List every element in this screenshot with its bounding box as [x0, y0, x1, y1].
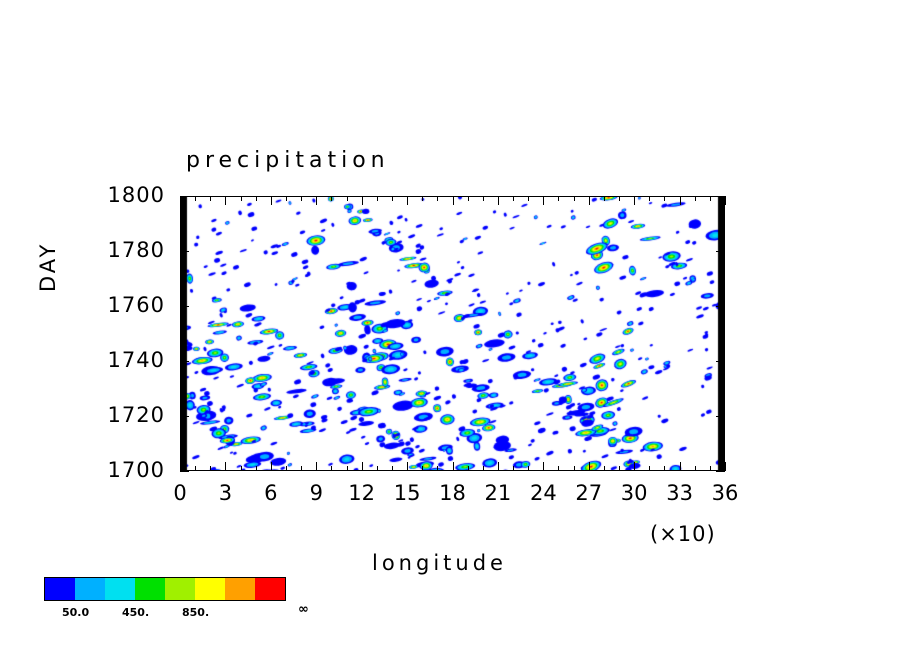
x-tick [680, 196, 681, 205]
y-tick [180, 279, 185, 280]
y-tick [720, 265, 725, 266]
y-tick-label: 1800 [55, 183, 165, 207]
x-tick [543, 196, 544, 205]
x-tick [347, 466, 348, 471]
x-tick [437, 466, 438, 471]
x-tick-label: 30 [614, 481, 654, 505]
y-tick [180, 416, 189, 417]
y-tick [180, 196, 189, 197]
x-tick [498, 196, 499, 205]
y-tick [720, 457, 725, 458]
y-tick [720, 334, 725, 335]
y-tick [716, 471, 725, 472]
x-tick-label: 36 [705, 481, 745, 505]
y-tick [180, 402, 185, 403]
precipitation-field [181, 197, 724, 470]
x-tick [241, 466, 242, 471]
colorbar-label: 450. [122, 606, 149, 619]
x-tick [210, 196, 211, 201]
x-tick [558, 466, 559, 471]
x-tick [513, 466, 514, 471]
colorbar-swatch [225, 578, 255, 600]
y-tick [180, 224, 185, 225]
x-tick [316, 462, 317, 471]
x-tick-label: 15 [387, 481, 427, 505]
x-tick-label: 6 [251, 481, 291, 505]
y-tick [180, 334, 185, 335]
x-tick [407, 196, 408, 205]
y-tick-label: 1700 [55, 458, 165, 482]
y-tick-label: 1780 [55, 238, 165, 262]
x-tick [331, 196, 332, 201]
x-tick-label: 24 [523, 481, 563, 505]
y-tick [180, 389, 185, 390]
y-tick [720, 402, 725, 403]
y-tick [180, 444, 185, 445]
y-tick [716, 416, 725, 417]
y-tick [720, 389, 725, 390]
x-tick-label: 9 [296, 481, 336, 505]
y-tick-label: 1740 [55, 348, 165, 372]
x-tick [543, 462, 544, 471]
x-axis-label: longitude [372, 551, 507, 575]
x-tick [574, 466, 575, 471]
x-tick [180, 196, 181, 205]
y-tick [180, 430, 185, 431]
x-tick [301, 196, 302, 201]
x-tick [195, 466, 196, 471]
x-tick [225, 196, 226, 205]
x-tick [619, 466, 620, 471]
y-tick [716, 306, 725, 307]
colorbar-swatch [45, 578, 75, 600]
x-tick [664, 466, 665, 471]
y-tick [720, 320, 725, 321]
x-tick [392, 196, 393, 201]
x-tick [286, 466, 287, 471]
x-tick [453, 462, 454, 471]
x-tick [316, 196, 317, 205]
x-tick [241, 196, 242, 201]
y-tick [180, 210, 185, 211]
colorbar-swatch [255, 578, 285, 600]
x-tick [483, 466, 484, 471]
colorbar-label: 50.0 [62, 606, 89, 619]
x-tick [407, 462, 408, 471]
x-tick [256, 196, 257, 201]
x-tick [589, 196, 590, 205]
colorbar-swatch [75, 578, 105, 600]
x-tick [695, 196, 696, 201]
y-tick-label: 1760 [55, 293, 165, 317]
y-tick [180, 375, 185, 376]
y-tick [180, 320, 185, 321]
x-tick [377, 466, 378, 471]
x-tick [725, 196, 726, 205]
y-tick [720, 279, 725, 280]
x-tick [453, 196, 454, 205]
x-tick [513, 196, 514, 201]
x-tick-label: 33 [660, 481, 700, 505]
x-tick [680, 462, 681, 471]
x-tick [695, 466, 696, 471]
x-tick [286, 196, 287, 201]
x-tick [331, 466, 332, 471]
y-tick [180, 471, 189, 472]
x-tick [634, 462, 635, 471]
x-tick [422, 196, 423, 201]
chart-figure: precipitation DAY longitude (×10) 170017… [0, 0, 904, 654]
x-tick [664, 196, 665, 201]
y-tick [720, 237, 725, 238]
x-tick [619, 196, 620, 201]
y-tick [180, 457, 185, 458]
x-tick [195, 196, 196, 201]
y-tick-label: 1720 [55, 403, 165, 427]
x-tick-label: 27 [569, 481, 609, 505]
x-tick [468, 466, 469, 471]
x-tick [347, 196, 348, 201]
colorbar-label: ∞ [298, 602, 309, 617]
x-tick [710, 196, 711, 201]
x-tick-label: 12 [342, 481, 382, 505]
x-tick [483, 196, 484, 201]
x-tick [604, 466, 605, 471]
x-tick [498, 462, 499, 471]
x-tick [558, 196, 559, 201]
y-tick [720, 224, 725, 225]
x-tick [468, 196, 469, 201]
colorbar-swatch [195, 578, 225, 600]
x-tick [574, 196, 575, 201]
x-tick [649, 466, 650, 471]
x-tick-label: 3 [205, 481, 245, 505]
y-tick [720, 375, 725, 376]
x-tick-label: 0 [160, 481, 200, 505]
chart-title: precipitation [186, 148, 390, 173]
y-tick [180, 251, 189, 252]
x-tick [528, 466, 529, 471]
x-tick [649, 196, 650, 201]
x-tick [604, 196, 605, 201]
x-tick [422, 466, 423, 471]
x-tick-label: 18 [433, 481, 473, 505]
x-tick [271, 462, 272, 471]
x-tick [180, 462, 181, 471]
colorbar-swatch [135, 578, 165, 600]
y-tick [720, 210, 725, 211]
x-tick-label: 21 [478, 481, 518, 505]
x-tick [634, 196, 635, 205]
y-tick [720, 444, 725, 445]
colorbar-swatch [165, 578, 195, 600]
x-tick [256, 466, 257, 471]
x-axis-multiplier: (×10) [650, 522, 716, 546]
x-tick [301, 466, 302, 471]
x-tick [225, 462, 226, 471]
y-tick [180, 292, 185, 293]
x-tick [528, 196, 529, 201]
y-tick [180, 306, 189, 307]
x-tick [271, 196, 272, 205]
x-tick [210, 466, 211, 471]
x-tick [362, 196, 363, 205]
x-tick [392, 466, 393, 471]
colorbar-label: 850. [182, 606, 209, 619]
colorbar [44, 577, 286, 601]
y-tick [720, 430, 725, 431]
x-tick [362, 462, 363, 471]
colorbar-swatch [105, 578, 135, 600]
y-tick [180, 361, 189, 362]
x-tick [710, 466, 711, 471]
x-tick [377, 196, 378, 201]
y-tick [180, 265, 185, 266]
y-tick [716, 251, 725, 252]
y-tick [720, 347, 725, 348]
y-tick [716, 196, 725, 197]
y-tick [180, 347, 185, 348]
x-tick [589, 462, 590, 471]
y-tick [180, 237, 185, 238]
plot-area [180, 196, 725, 471]
y-tick [720, 292, 725, 293]
x-tick [725, 462, 726, 471]
y-tick [716, 361, 725, 362]
x-tick [437, 196, 438, 201]
